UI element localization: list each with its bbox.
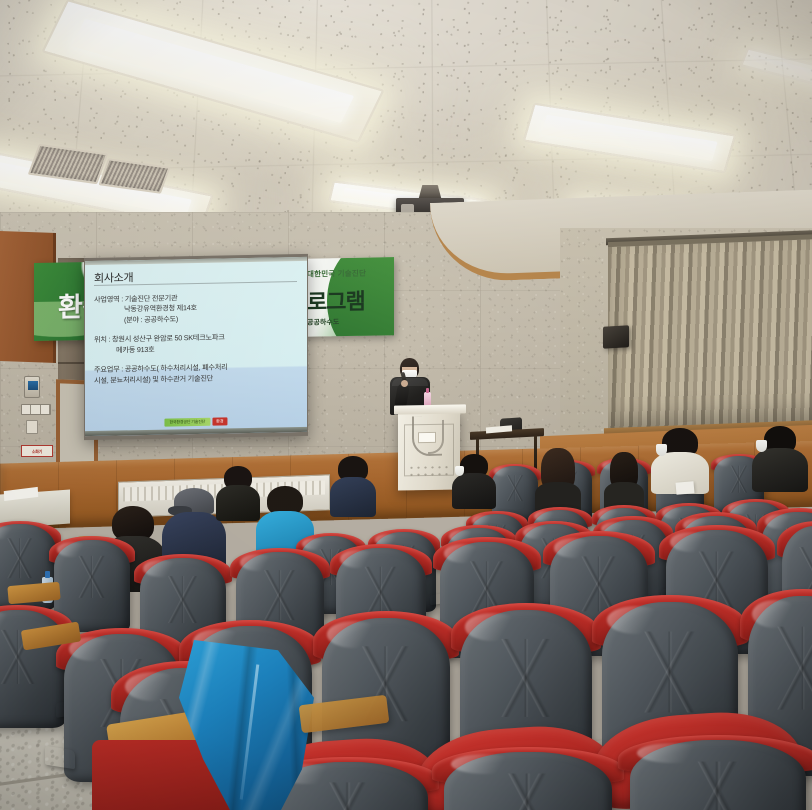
seat-star-emboss bbox=[667, 762, 769, 810]
attendee-torso bbox=[752, 448, 808, 492]
slide-footer-logo: 한국환경공단 기술진단 환경 bbox=[164, 417, 227, 426]
wall-outlet[interactable] bbox=[26, 420, 38, 434]
projected-slide: 회사소개 사업영역 : 기술진단 전문기관 낙동강유역환경청 제14호 (분야 … bbox=[85, 257, 307, 436]
lectern-top bbox=[394, 404, 466, 414]
seat-star-emboss bbox=[631, 632, 710, 713]
seat-star-emboss bbox=[488, 639, 565, 717]
projection-screen: 회사소개 사업영역 : 기술진단 전문기관 낙동강유역환경청 제14호 (분야 … bbox=[84, 254, 308, 440]
seat-row-f-2[interactable] bbox=[444, 752, 612, 810]
slide-logo-green: 한국환경공단 기술진단 bbox=[164, 418, 210, 427]
attendee-torso bbox=[330, 477, 376, 517]
attendee-face-mask bbox=[756, 440, 767, 452]
attendee-torso bbox=[452, 473, 496, 509]
seat-highlight bbox=[607, 606, 664, 634]
attendee-11 bbox=[604, 452, 644, 498]
seat-highlight bbox=[637, 743, 711, 763]
seat-highlight bbox=[125, 672, 180, 701]
seat-armrest bbox=[45, 746, 75, 770]
control-panel-screen bbox=[28, 381, 38, 390]
attendee-torso bbox=[216, 485, 260, 521]
seat-highlight bbox=[444, 544, 483, 563]
seat-star-emboss bbox=[479, 773, 576, 810]
presenter-hand bbox=[401, 380, 408, 387]
seat-row-f-3[interactable] bbox=[630, 740, 806, 810]
seat-star-emboss bbox=[355, 567, 407, 618]
banner-right-logo: 대한민국 기술진단 bbox=[307, 268, 366, 280]
seat-highlight bbox=[752, 600, 798, 629]
seat-star-emboss bbox=[0, 539, 41, 579]
seat-star-emboss bbox=[70, 556, 114, 598]
wall-speaker bbox=[603, 325, 629, 348]
banner-right-text: 로그램 bbox=[307, 284, 365, 317]
seat-highlight bbox=[143, 560, 179, 577]
seat-highlight bbox=[302, 538, 328, 550]
light-switch-bank[interactable] bbox=[21, 404, 51, 415]
seat-star-emboss bbox=[771, 627, 812, 710]
slide-content: 회사소개 사업영역 : 기술진단 전문기관 낙동강유역환경청 제14호 (분야 … bbox=[94, 266, 299, 402]
seat-highlight bbox=[327, 621, 381, 647]
wall-control-panel[interactable] bbox=[24, 376, 40, 398]
screen-top-bar bbox=[85, 257, 307, 265]
auditorium-photo: 소화기 환경 대한민국 기술진단 로그램 공공하수도 회사소개 사업영역 : 기… bbox=[0, 0, 812, 810]
seat-star-emboss bbox=[725, 466, 754, 493]
seat-highlight bbox=[465, 613, 520, 640]
banner-right-sub: 공공하수도 bbox=[307, 317, 339, 328]
seat-star-emboss bbox=[502, 476, 529, 502]
seat-paper-2 bbox=[676, 481, 695, 495]
slide-logo-red: 환경 bbox=[212, 417, 227, 425]
attendee-10 bbox=[752, 426, 808, 484]
seat-star-emboss bbox=[158, 576, 208, 624]
attendee-6 bbox=[534, 448, 582, 500]
attendee-9 bbox=[650, 428, 710, 488]
seat-star-emboss bbox=[302, 782, 395, 810]
screen-bottom-bar bbox=[85, 427, 307, 436]
attendee-face-mask bbox=[656, 444, 667, 456]
seat-highlight bbox=[340, 550, 378, 568]
seat-star-emboss bbox=[254, 570, 305, 620]
seat-highlight bbox=[57, 542, 89, 557]
seat-highlight bbox=[554, 538, 595, 557]
wall-banner-right: 대한민국 기술진단 로그램 공공하수도 bbox=[298, 257, 394, 337]
attendee-8 bbox=[216, 466, 260, 514]
attendee-face-mask bbox=[455, 466, 464, 476]
bottle-cap bbox=[45, 571, 50, 578]
attendee-7 bbox=[452, 454, 496, 502]
window-curtain bbox=[608, 234, 812, 432]
attendee-5 bbox=[330, 456, 376, 510]
